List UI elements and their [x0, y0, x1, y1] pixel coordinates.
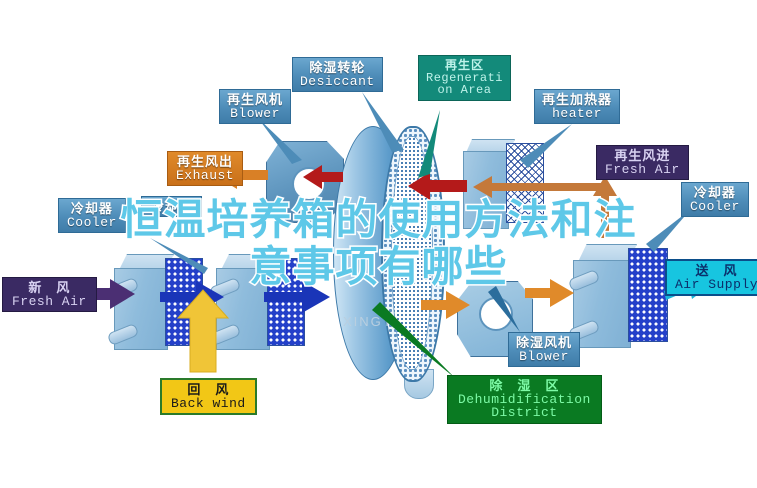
label-regen-fresh-air-in[interactable]: 再生风进 Fresh Air	[596, 145, 689, 180]
label-dehumid-blower-en: Blower	[516, 350, 572, 364]
label-regeneration-area[interactable]: 再生区 Regenerati on Area	[418, 55, 511, 101]
label-dehumidification-district-cn: 除 湿 区	[458, 379, 591, 393]
label-fresh-air-in-en: Fresh Air	[12, 295, 87, 309]
label-regen-fresh-air-in-en: Fresh Air	[605, 163, 680, 177]
overlay-title-line-1: 恒温培养箱的使用方法和注	[0, 196, 757, 243]
label-dehumidification-district-en2: District	[458, 406, 591, 420]
label-regen-blower-cn: 再生风机	[227, 93, 283, 107]
overlay-title: 恒温培养箱的使用方法和注 意事项有哪些	[0, 196, 757, 290]
label-regen-exhaust[interactable]: 再生风出 Exhaust	[167, 151, 243, 186]
label-regen-blower[interactable]: 再生风机 Blower	[219, 89, 291, 124]
label-regen-exhaust-en: Exhaust	[176, 169, 234, 183]
label-regen-fresh-air-in-cn: 再生风进	[605, 149, 680, 163]
label-regen-blower-en: Blower	[227, 107, 283, 121]
label-dehumid-blower[interactable]: 除湿风机 Blower	[508, 332, 580, 367]
label-desiccant-wheel[interactable]: 除湿转轮 Desiccant	[292, 57, 383, 92]
label-back-wind-cn: 回 风	[171, 383, 246, 397]
label-back-wind[interactable]: 回 风 Back wind	[160, 378, 257, 415]
label-regen-heater[interactable]: 再生加热器 heater	[534, 89, 620, 124]
label-dehumid-blower-cn: 除湿风机	[516, 336, 572, 350]
label-dehumidification-district[interactable]: 除 湿 区 Dehumidification District	[447, 375, 602, 424]
label-desiccant-wheel-en: Desiccant	[300, 75, 375, 89]
overlay-title-line-2: 意事项有哪些	[0, 243, 757, 290]
diagram-canvas: XINGYI	[0, 0, 757, 488]
label-dehumidification-district-en1: Dehumidification	[458, 393, 591, 407]
label-regen-heater-cn: 再生加热器	[542, 93, 612, 107]
label-back-wind-en: Back wind	[171, 397, 246, 411]
label-desiccant-wheel-cn: 除湿转轮	[300, 61, 375, 75]
label-regen-exhaust-cn: 再生风出	[176, 155, 234, 169]
label-regeneration-area-cn: 再生区	[426, 59, 503, 72]
label-regeneration-area-en2: on Area	[426, 84, 503, 97]
label-regen-heater-en: heater	[542, 107, 612, 121]
